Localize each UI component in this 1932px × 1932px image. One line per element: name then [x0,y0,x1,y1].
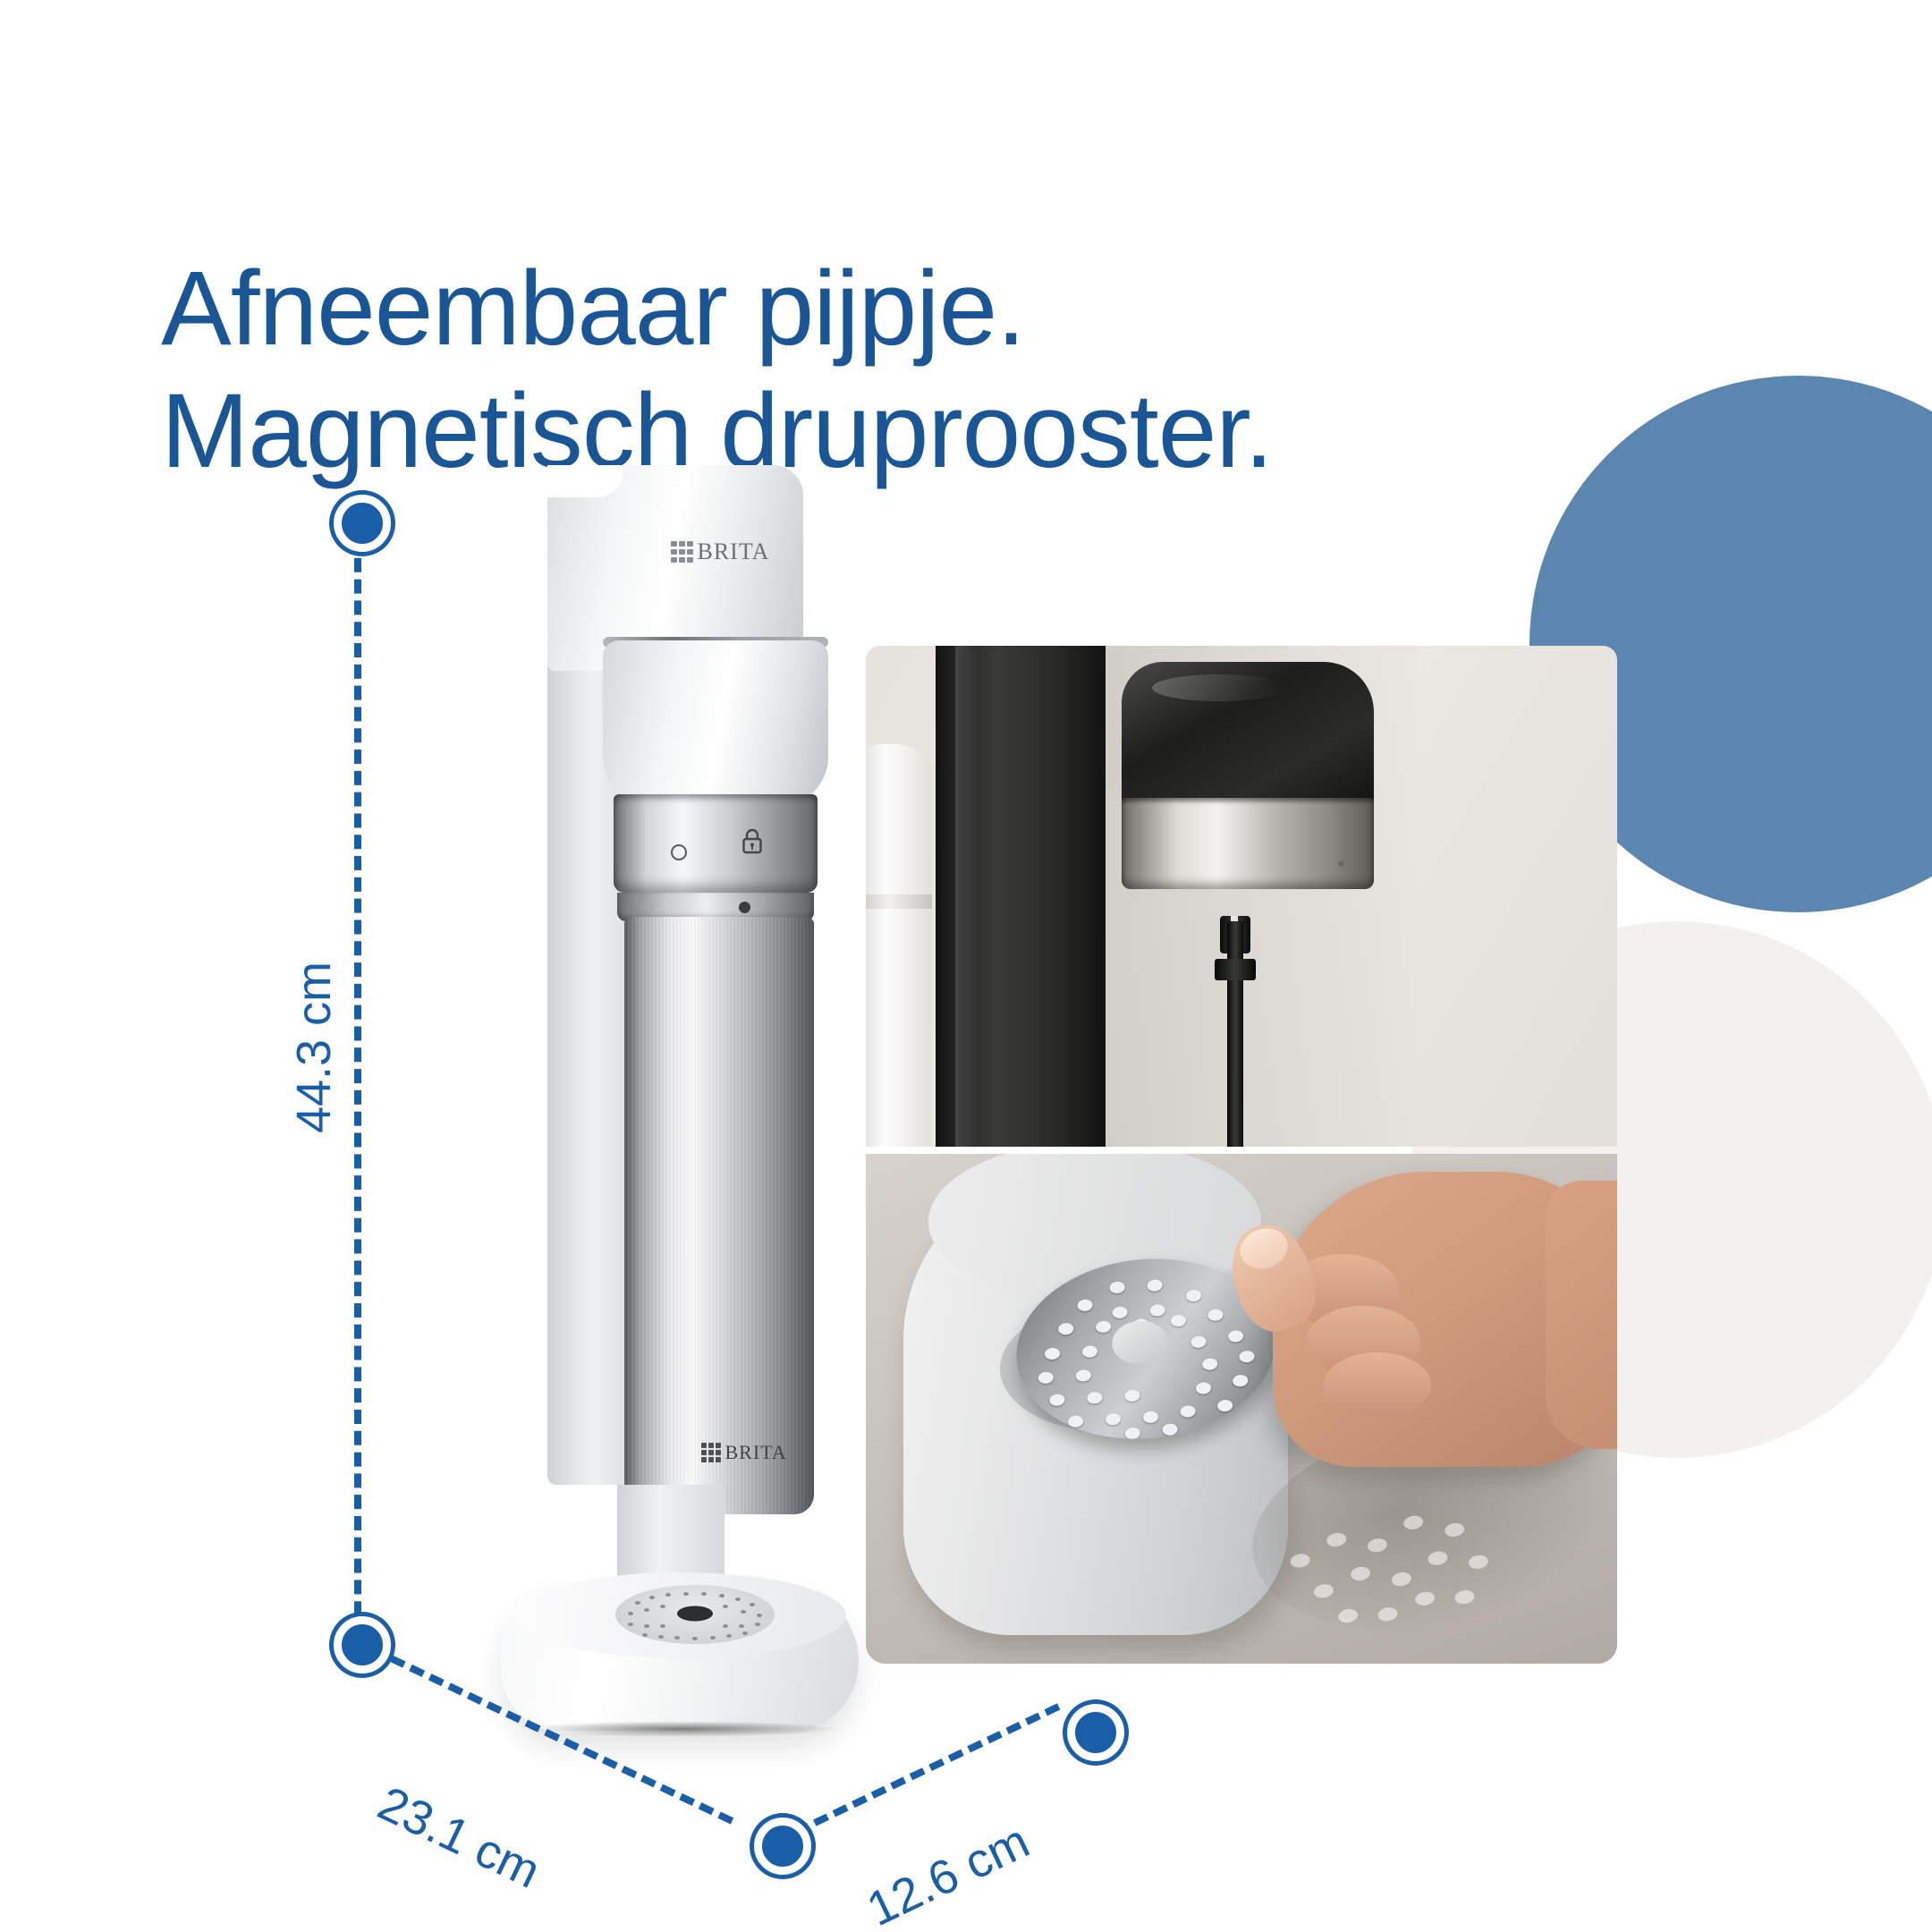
dimension-marker-front-left [334,1616,391,1674]
machine-base-shadow [524,1721,839,1737]
headline-line-1: Afneembaar pijpje. [161,250,1025,368]
machine-metal-collar [614,794,818,893]
dimension-line-height [354,537,361,1637]
collar-indicator-icon [739,902,750,913]
wrist [1546,1181,1617,1449]
product-soda-maker: BRITA BRITA [483,465,984,1735]
stainless-steel-bottle [624,917,814,1514]
dimension-label-width: 23.1 cm [369,1775,548,1900]
drip-tray-icon [615,1585,775,1644]
product-feature-slide: Afneembaar pijpje. Magnetisch druprooste… [0,0,1932,1932]
spout-collar [1215,959,1256,980]
brita-wordmark: BRITA [725,1443,787,1462]
machine-steel-band [1122,798,1374,889]
dimension-marker-top [334,495,391,552]
dimension-label-depth: 12.6 cm [859,1813,1038,1932]
dimension-marker-front-right [1067,1704,1124,1761]
drip-tray-center-hole [677,1606,713,1621]
brita-wordmark: BRITA [698,540,770,563]
unlock-circle-icon [671,844,687,860]
detachable-spout [1227,921,1243,1147]
brita-dot-grid-icon [671,541,693,563]
machine-neck [603,640,828,807]
knuckle [1324,1352,1431,1417]
brita-logo-bottle: BRITA [701,1443,787,1462]
steel-band-marker-icon [1338,860,1344,867]
black-machine-head [1122,662,1374,805]
brita-logo-top: BRITA [671,540,769,563]
machine-top-notch [547,465,623,497]
padlock-icon [739,826,766,861]
brita-dot-grid-icon [701,1443,721,1462]
dimension-label-height: 44.3 cm [286,962,342,1133]
dimension-marker-front-center [754,1818,811,1875]
